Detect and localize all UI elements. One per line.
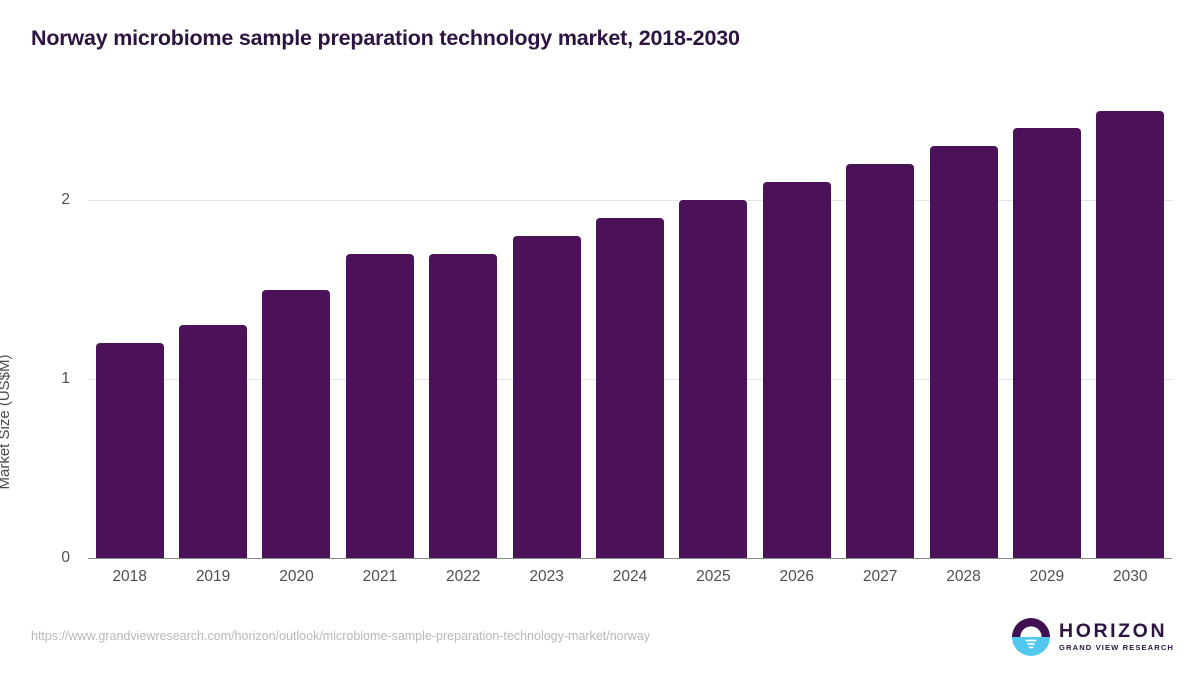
bar[interactable] [1096, 111, 1164, 559]
brand-logo: HORIZON GRAND VIEW RESEARCH [1012, 618, 1174, 656]
bar[interactable] [179, 325, 247, 558]
bar-slot [1089, 200, 1172, 558]
x-tick-label: 2028 [922, 568, 1005, 586]
y-tick-label: 2 [14, 192, 70, 208]
bar-slot [422, 200, 505, 558]
bar-slot [88, 200, 171, 558]
x-tick-label: 2030 [1089, 568, 1172, 586]
x-tick-label: 2027 [838, 568, 921, 586]
bar[interactable] [930, 146, 998, 558]
bar-slot [505, 200, 588, 558]
x-tick-label: 2022 [422, 568, 505, 586]
bar-slot [922, 200, 1005, 558]
brand-wordmark: HORIZON [1059, 622, 1174, 642]
chart-plot-region: Market Size (US$M) 012 20182019202020212… [0, 0, 1200, 675]
x-tick-label: 2018 [88, 568, 171, 586]
x-tick-label: 2021 [338, 568, 421, 586]
x-tick-label: 2019 [171, 568, 254, 586]
bar[interactable] [763, 182, 831, 558]
bar-slot [338, 200, 421, 558]
bar[interactable] [596, 218, 664, 558]
x-tick-label: 2024 [588, 568, 671, 586]
bar[interactable] [1013, 128, 1081, 558]
bar[interactable] [96, 343, 164, 558]
bar[interactable] [846, 164, 914, 558]
y-axis-title: Market Size (US$M) [0, 262, 13, 582]
x-axis-baseline [88, 558, 1172, 559]
bars-container [88, 200, 1172, 558]
brand-logo-text: HORIZON GRAND VIEW RESEARCH [1059, 622, 1174, 652]
bar-slot [171, 200, 254, 558]
bar-slot [755, 200, 838, 558]
bar-slot [1005, 200, 1088, 558]
x-tick-label: 2026 [755, 568, 838, 586]
x-tick-label: 2025 [672, 568, 755, 586]
x-tick-label: 2020 [255, 568, 338, 586]
footer-divider [0, 609, 1200, 610]
y-tick-label: 1 [14, 371, 70, 387]
bar[interactable] [262, 290, 330, 559]
x-tick-label: 2023 [505, 568, 588, 586]
bar[interactable] [346, 254, 414, 558]
x-tick-label: 2029 [1005, 568, 1088, 586]
bar-slot [672, 200, 755, 558]
chart-screenshot: Norway microbiome sample preparation tec… [0, 0, 1200, 675]
brand-tagline: GRAND VIEW RESEARCH [1059, 644, 1174, 652]
y-tick-label: 0 [14, 550, 70, 566]
bar[interactable] [513, 236, 581, 558]
bar[interactable] [429, 254, 497, 558]
horizon-logo-icon [1012, 618, 1050, 656]
source-url-link[interactable]: https://www.grandviewresearch.com/horizo… [31, 629, 650, 643]
bar-slot [255, 200, 338, 558]
bar-slot [838, 200, 921, 558]
bar[interactable] [679, 200, 747, 558]
bar-slot [588, 200, 671, 558]
